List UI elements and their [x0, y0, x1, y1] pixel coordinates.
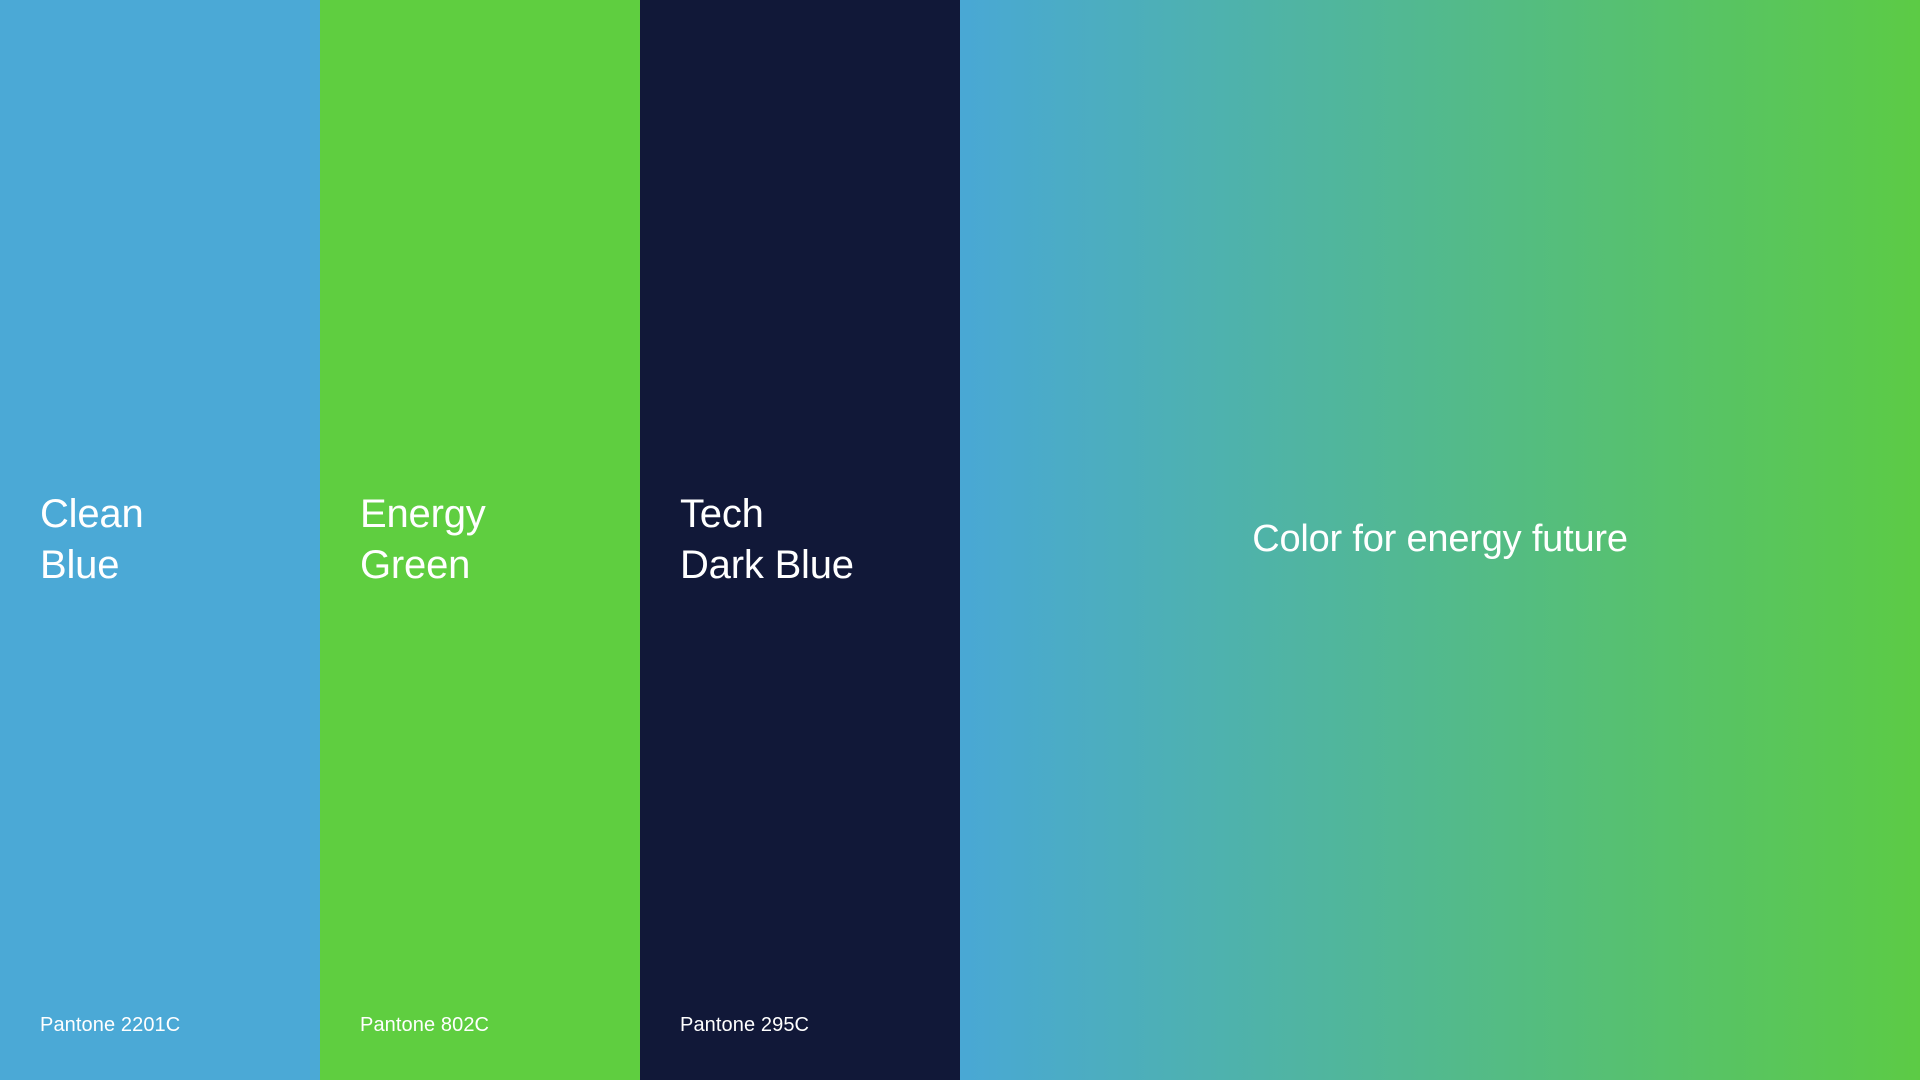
color-swatch-clean-blue[interactable]: Clean Blue Pantone 2201C: [0, 0, 320, 1080]
gradient-showcase-panel: Color for energy future: [960, 0, 1920, 1080]
gradient-tagline: Color for energy future: [960, 515, 1920, 563]
swatch-pantone-energy-green: Pantone 802C: [360, 1012, 489, 1038]
swatch-pantone-clean-blue: Pantone 2201C: [40, 1012, 180, 1038]
swatch-name-clean-blue: Clean Blue: [40, 489, 144, 591]
color-swatch-energy-green[interactable]: Energy Green Pantone 802C: [320, 0, 640, 1080]
swatch-name-tech-dark-blue: Tech Dark Blue: [680, 489, 854, 591]
color-palette-board: Clean Blue Pantone 2201C Energy Green Pa…: [0, 0, 1920, 1080]
swatch-name-energy-green: Energy Green: [360, 489, 486, 591]
swatch-pantone-tech-dark-blue: Pantone 295C: [680, 1012, 809, 1038]
color-swatch-tech-dark-blue[interactable]: Tech Dark Blue Pantone 295C: [640, 0, 960, 1080]
